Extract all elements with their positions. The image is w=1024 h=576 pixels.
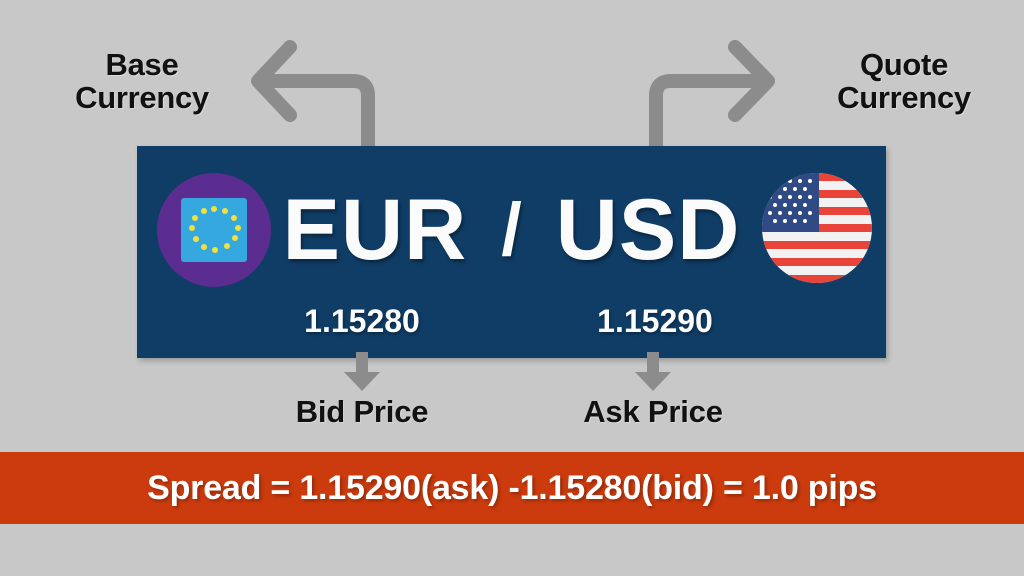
spread-bar: Spread = 1.15290(ask) -1.15280(bid) = 1.… bbox=[0, 452, 1024, 524]
ask-price-value: 1.15290 bbox=[565, 303, 745, 340]
spread-formula-text: Spread = 1.15290(ask) -1.15280(bid) = 1.… bbox=[147, 469, 877, 508]
bid-price-label: Bid Price bbox=[232, 394, 492, 430]
elbow-arrow-right bbox=[636, 34, 788, 154]
infographic-canvas: Base Currency Quote Currency bbox=[0, 0, 1024, 576]
currency-pair-panel: EUR / USD 1.15280 1.15290 bbox=[137, 146, 886, 358]
arrow-down-ask bbox=[631, 352, 675, 392]
ask-price-label: Ask Price bbox=[523, 394, 783, 430]
arrow-down-bid bbox=[340, 352, 384, 392]
quote-currency-code: USD bbox=[556, 187, 741, 273]
quote-currency-label: Quote Currency bbox=[790, 48, 1018, 115]
elbow-arrow-left bbox=[238, 34, 388, 154]
currency-pair-row: EUR / USD bbox=[137, 174, 886, 286]
pair-separator: / bbox=[501, 193, 522, 267]
base-currency-label: Base Currency bbox=[28, 48, 256, 115]
bid-price-value: 1.15280 bbox=[272, 303, 452, 340]
base-currency-code: EUR bbox=[283, 187, 468, 273]
